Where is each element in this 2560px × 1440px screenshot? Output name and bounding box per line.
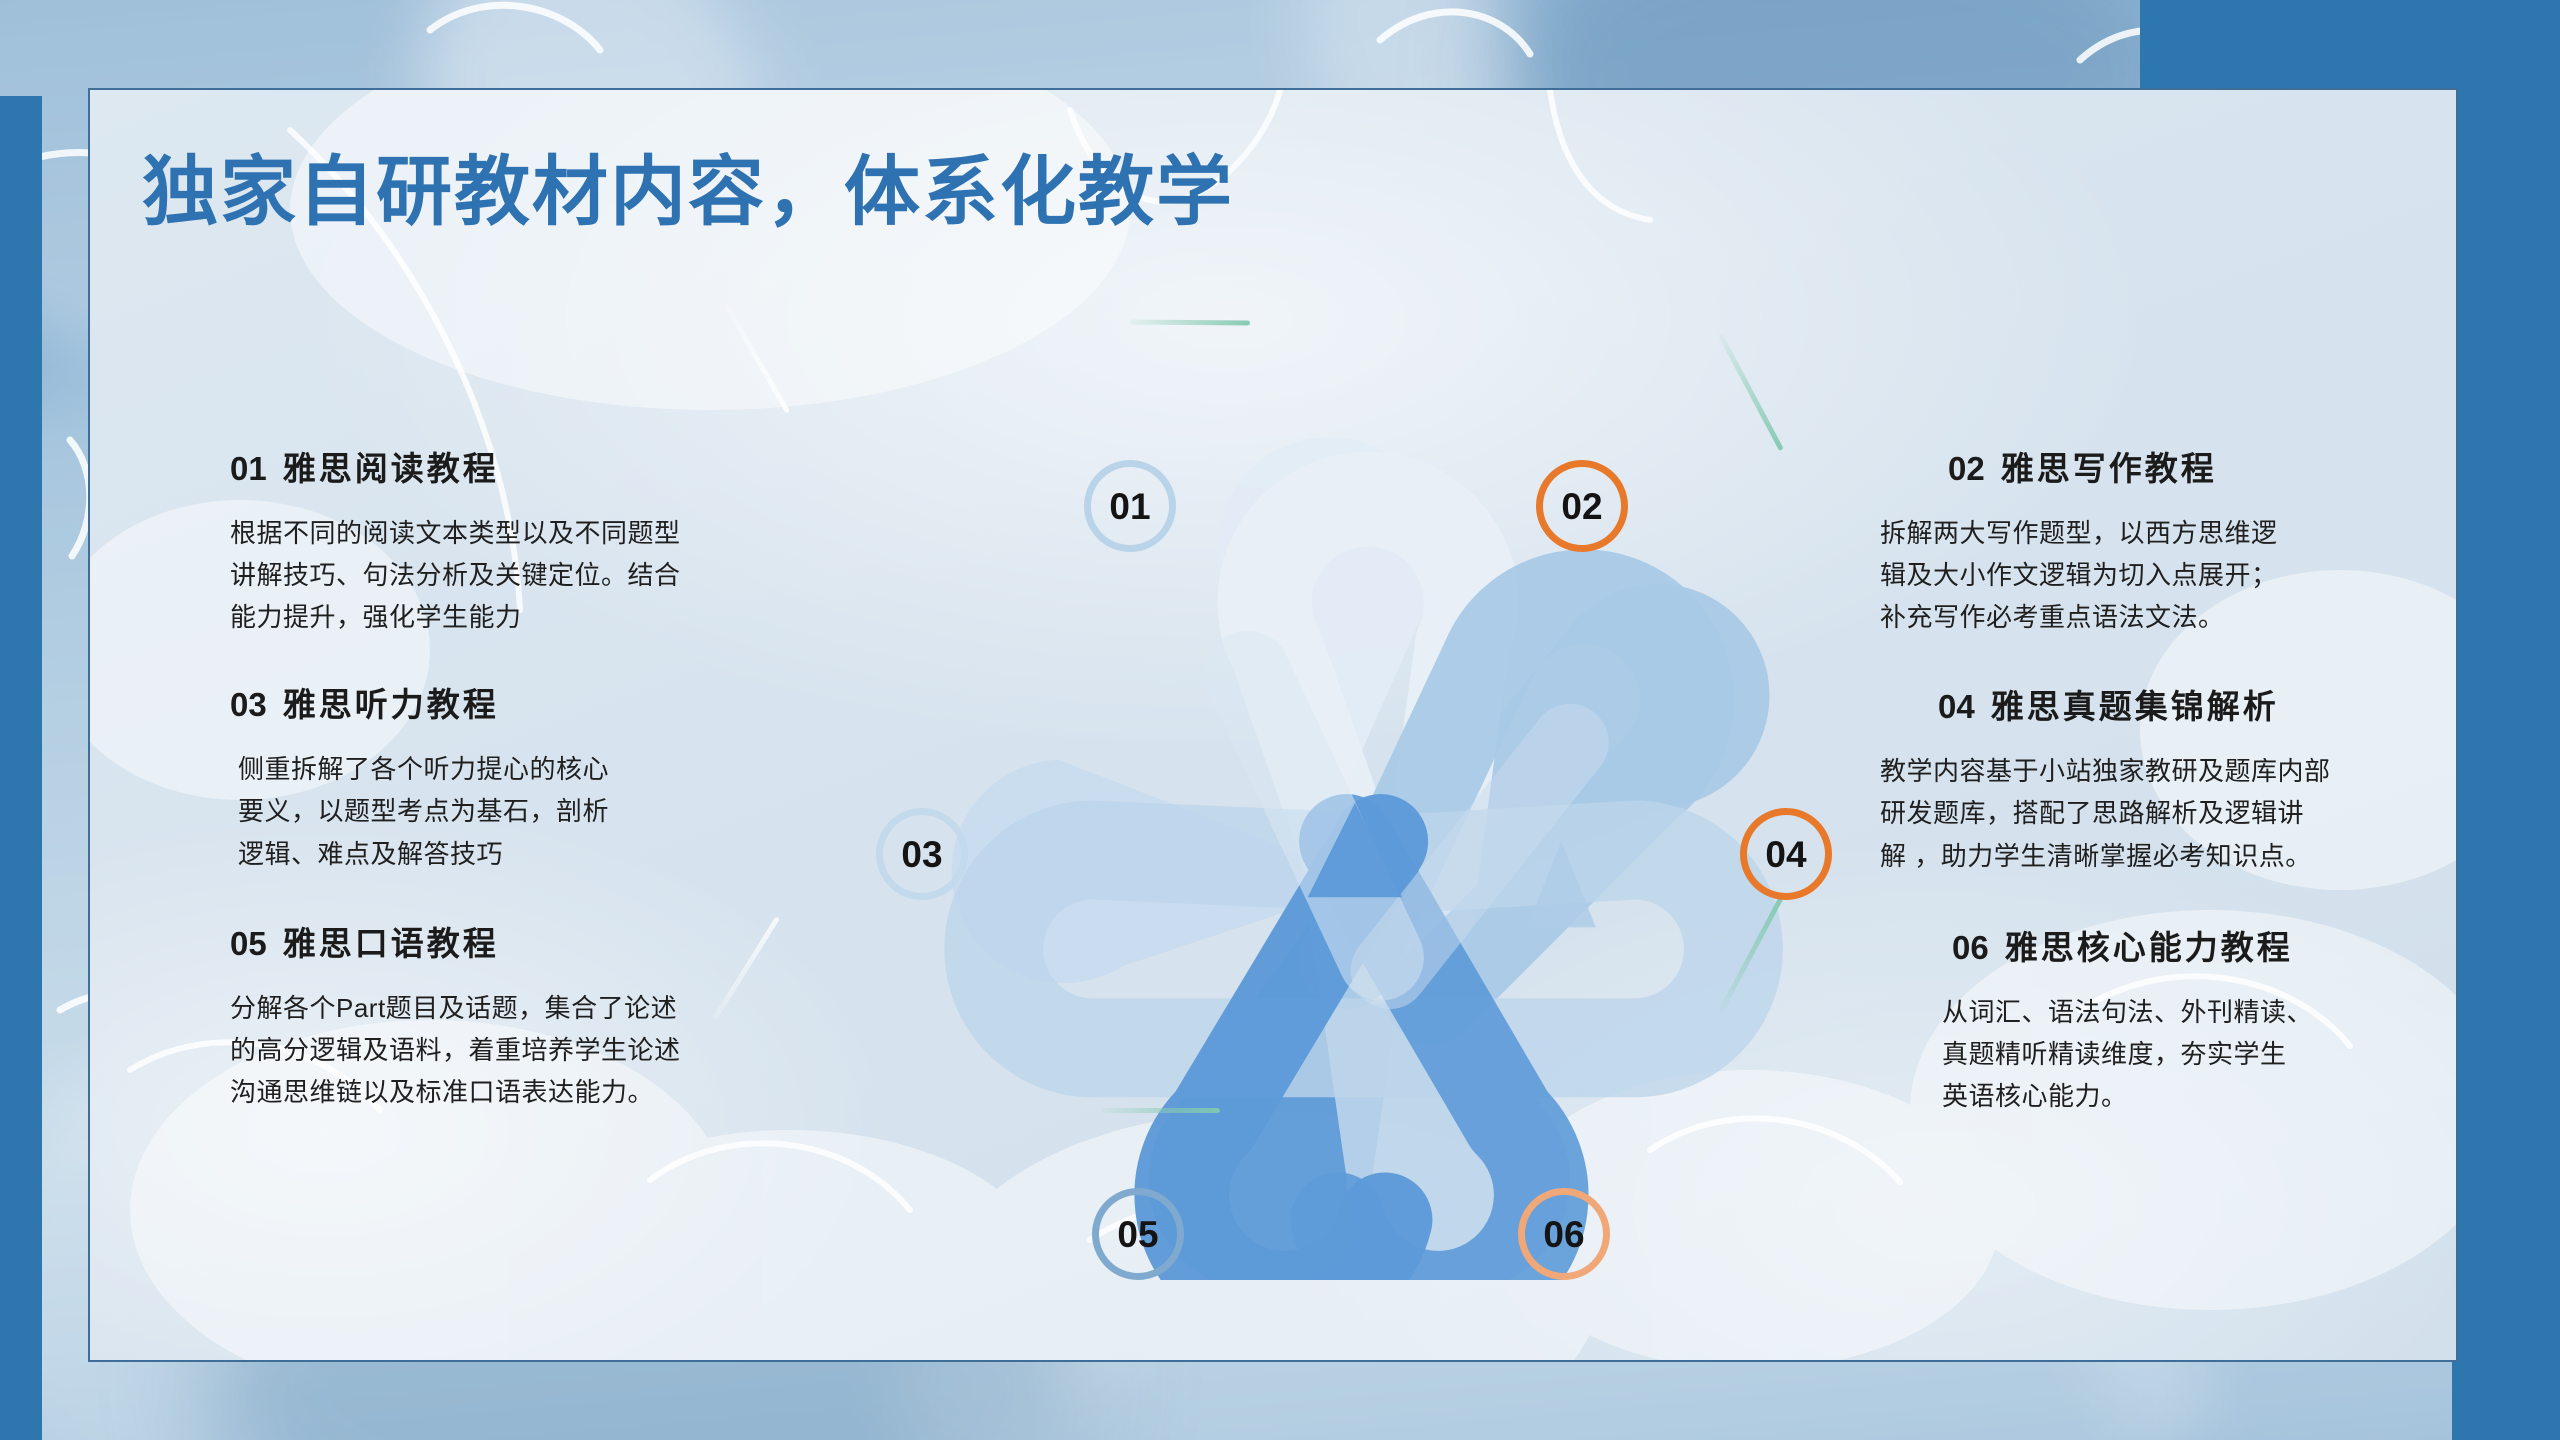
feature-item-03-body: 侧重拆解了各个听力提心的核心 要义，以题型考点为基石，剖析 逻辑、难点及解答技巧 [230, 748, 930, 874]
top-right-band [2140, 0, 2560, 96]
right-edge-band [2452, 0, 2560, 1440]
mint-dash-decoration [1718, 334, 1783, 451]
feature-item-01-number: 01 [230, 450, 267, 487]
feature-item-06-title: 雅思核心能力教程 [2005, 929, 2293, 966]
feature-item-04-number: 04 [1938, 688, 1975, 725]
feature-item-04-title: 雅思真题集锦解析 [1991, 688, 2279, 725]
feature-item-05-body: 分解各个Part题目及话题，集合了论述 的高分逻辑及语料，着重培养学生论述 沟通… [230, 987, 930, 1113]
feature-item-03-title: 雅思听力教程 [283, 686, 499, 723]
feature-item-06-body: 从词汇、语法句法、外刊精读、 真题精听精读维度，夯实学生 英语核心能力。 [1880, 991, 2458, 1117]
feature-item-04: 04雅思真题集锦解析 教学内容基于小站独家教研及题库内部 研发题库，搭配了思路解… [1880, 680, 2458, 876]
feature-item-06-heading: 06雅思核心能力教程 [1880, 921, 2458, 969]
feature-item-01-title: 雅思阅读教程 [283, 450, 499, 487]
feature-item-02-title: 雅思写作教程 [2001, 450, 2217, 487]
badge-06[interactable]: 06 [1518, 1188, 1610, 1280]
badge-02[interactable]: 02 [1536, 460, 1628, 552]
feature-item-01-heading: 01雅思阅读教程 [230, 442, 930, 490]
feature-item-02-body: 拆解两大写作题型，以西方思维逻 辑及大小作文逻辑为切入点展开； 补充写作必考重点… [1880, 512, 2458, 638]
badge-01-label: 01 [1109, 488, 1150, 525]
left-text-column: 01雅思阅读教程 根据不同的阅读文本类型以及不同题型 讲解技巧、句法分析及关键定… [230, 442, 930, 1127]
left-edge-band [0, 96, 42, 1440]
mint-dash-decoration [1130, 319, 1250, 325]
badge-01[interactable]: 01 [1084, 460, 1176, 552]
badge-05-label: 05 [1117, 1216, 1158, 1253]
feature-item-05-heading: 05雅思口语教程 [230, 917, 930, 965]
feature-item-03: 03雅思听力教程 侧重拆解了各个听力提心的核心 要义，以题型考点为基石，剖析 逻… [230, 678, 930, 874]
slide-root: 独家自研教材内容，体系化教学 [0, 0, 2560, 1440]
feature-item-06: 06雅思核心能力教程 从词汇、语法句法、外刊精读、 真题精听精读维度，夯实学生 … [1880, 921, 2458, 1117]
feature-item-03-heading: 03雅思听力教程 [230, 678, 930, 726]
feature-item-02: 02雅思写作教程 拆解两大写作题型，以西方思维逻 辑及大小作文逻辑为切入点展开；… [1880, 442, 2458, 638]
feature-item-02-heading: 02雅思写作教程 [1880, 442, 2458, 490]
feature-item-06-number: 06 [1952, 929, 1989, 966]
feature-item-01-body: 根据不同的阅读文本类型以及不同题型 讲解技巧、句法分析及关键定位。结合 能力提升… [230, 512, 930, 638]
mint-dash-decoration [1718, 896, 1783, 1013]
feature-item-05: 05雅思口语教程 分解各个Part题目及话题，集合了论述 的高分逻辑及语料，着重… [230, 917, 930, 1113]
feature-item-01: 01雅思阅读教程 根据不同的阅读文本类型以及不同题型 讲解技巧、句法分析及关键定… [230, 442, 930, 638]
interlocking-loop-knot-graphic [925, 420, 1785, 1280]
badge-04[interactable]: 04 [1740, 808, 1832, 900]
badge-02-label: 02 [1561, 488, 1602, 525]
mint-dash-decoration [1102, 1108, 1220, 1113]
badge-05[interactable]: 05 [1092, 1188, 1184, 1280]
right-text-column: 02雅思写作教程 拆解两大写作题型，以西方思维逻 辑及大小作文逻辑为切入点展开；… [1880, 442, 2458, 1123]
content-panel: 独家自研教材内容，体系化教学 [88, 88, 2458, 1362]
page-title: 独家自研教材内容，体系化教学 [142, 130, 1234, 240]
badge-04-label: 04 [1765, 836, 1806, 873]
feature-item-05-title: 雅思口语教程 [283, 925, 499, 962]
white-dash-decoration [726, 307, 790, 413]
feature-item-02-number: 02 [1948, 450, 1985, 487]
feature-item-05-number: 05 [230, 925, 267, 962]
feature-item-03-number: 03 [230, 686, 267, 723]
feature-item-04-body: 教学内容基于小站独家教研及题库内部 研发题库，搭配了思路解析及逻辑讲 解 ，助力… [1880, 750, 2458, 876]
badge-06-label: 06 [1543, 1216, 1584, 1253]
feature-item-04-heading: 04雅思真题集锦解析 [1880, 680, 2458, 728]
